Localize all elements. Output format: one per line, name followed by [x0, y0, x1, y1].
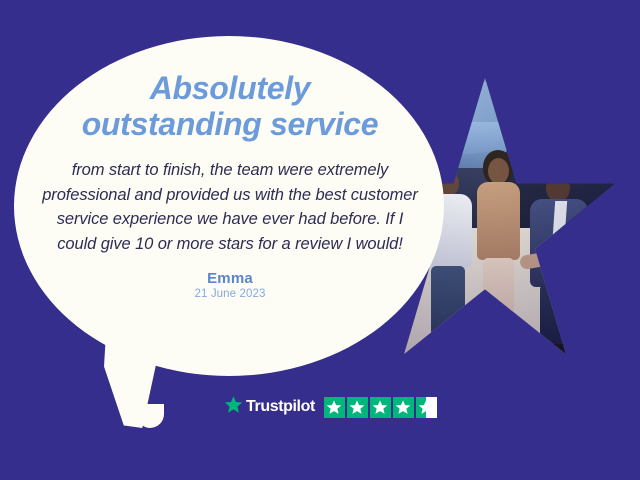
- review-headline: Absolutely outstanding service: [34, 70, 426, 142]
- shoes: [428, 334, 468, 347]
- rating-star-5-half[interactable]: [416, 397, 437, 418]
- rating-star-1[interactable]: [324, 397, 345, 418]
- trustpilot-star-icon: [224, 395, 243, 419]
- trustpilot-rating[interactable]: Trustpilot: [224, 396, 437, 418]
- trustpilot-wordmark: Trustpilot: [246, 398, 315, 416]
- review-content: Absolutely outstanding service from star…: [34, 70, 426, 300]
- trustpilot-logo: Trustpilot: [224, 395, 315, 419]
- trustpilot-star-boxes[interactable]: [324, 397, 437, 418]
- headline-line-2: outstanding service: [34, 106, 426, 142]
- review-body: from start to finish, the team were extr…: [41, 158, 419, 256]
- rating-star-3[interactable]: [370, 397, 391, 418]
- review-author: Emma: [34, 270, 426, 287]
- headline-line-1: Absolutely: [34, 70, 426, 106]
- speech-bubble-tail-tip: [138, 404, 164, 428]
- review-card: Absolutely outstanding service from star…: [0, 0, 640, 480]
- shoes: [481, 330, 513, 342]
- review-date: 21 June 2023: [34, 288, 426, 300]
- rating-star-4[interactable]: [393, 397, 414, 418]
- rating-star-2[interactable]: [347, 397, 368, 418]
